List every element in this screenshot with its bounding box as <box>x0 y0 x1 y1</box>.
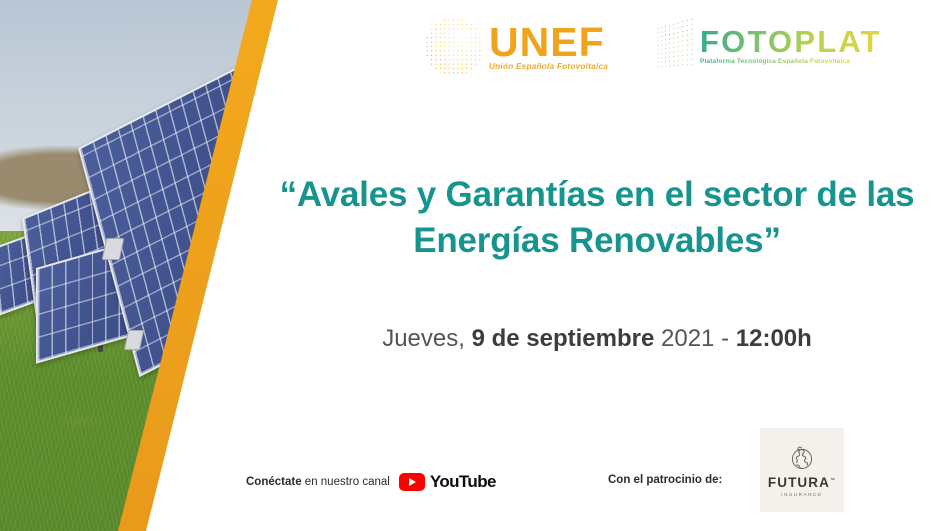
futura-insurance-logo: FUTURA™ INSURANCE <box>760 428 844 512</box>
futura-wordmark: FUTURA™ <box>768 476 836 490</box>
fotoplat-dotted-panel-icon <box>656 16 695 69</box>
event-time: 12:00h <box>736 325 812 352</box>
unef-logo: UNEF Unión Española Fotovoltaica <box>425 18 608 76</box>
event-day-month: 9 de septiembre <box>472 325 655 352</box>
youtube-channel-callout[interactable]: Conéctate en nuestro canal YouTube <box>246 472 496 492</box>
event-weekday: Jueves, <box>382 325 465 352</box>
event-poster: UNEF Unión Española Fotovoltaica FOTOPLA… <box>0 0 944 531</box>
sponsor-callout: Con el patrocinio de: <box>608 474 722 486</box>
fotoplat-tagline: Plataforma Tecnológica Española Fotovolt… <box>700 58 882 65</box>
youtube-logo[interactable]: YouTube <box>399 472 496 492</box>
globe-icon <box>787 443 817 473</box>
youtube-wordmark: YouTube <box>430 472 496 492</box>
connect-rest-text: en nuestro canal <box>302 476 390 488</box>
header-logos: UNEF Unión Española Fotovoltaica FOTOPLA… <box>300 14 944 88</box>
event-title-line-2: Energías Renovables” <box>250 218 944 264</box>
unef-tagline: Unión Española Fotovoltaica <box>489 62 608 71</box>
play-triangle-icon <box>409 478 416 486</box>
fotoplat-logo: FOTOPLAT Plataforma Tecnológica Española… <box>653 22 882 68</box>
connect-text: Conéctate en nuestro canal <box>246 476 390 488</box>
youtube-play-icon <box>399 473 425 491</box>
event-title: “Avales y Garantías en el sector de las … <box>250 172 944 263</box>
event-title-line-1: “Avales y Garantías en el sector de las <box>250 172 944 218</box>
sponsor-label: Con el patrocinio de: <box>608 474 722 486</box>
futura-trademark: ™ <box>830 477 836 483</box>
unef-halftone-sphere-icon <box>425 18 483 76</box>
event-datetime: Jueves, 9 de septiembre 2021 - 12:00h <box>250 325 944 354</box>
connect-bold-text: Conéctate <box>246 476 302 488</box>
futura-subtitle: INSURANCE <box>781 492 822 497</box>
fotoplat-wordmark: FOTOPLAT <box>700 26 882 57</box>
unef-wordmark: UNEF <box>489 23 608 62</box>
futura-name-text: FUTURA <box>768 475 830 490</box>
event-year: 2021 - <box>661 325 729 352</box>
